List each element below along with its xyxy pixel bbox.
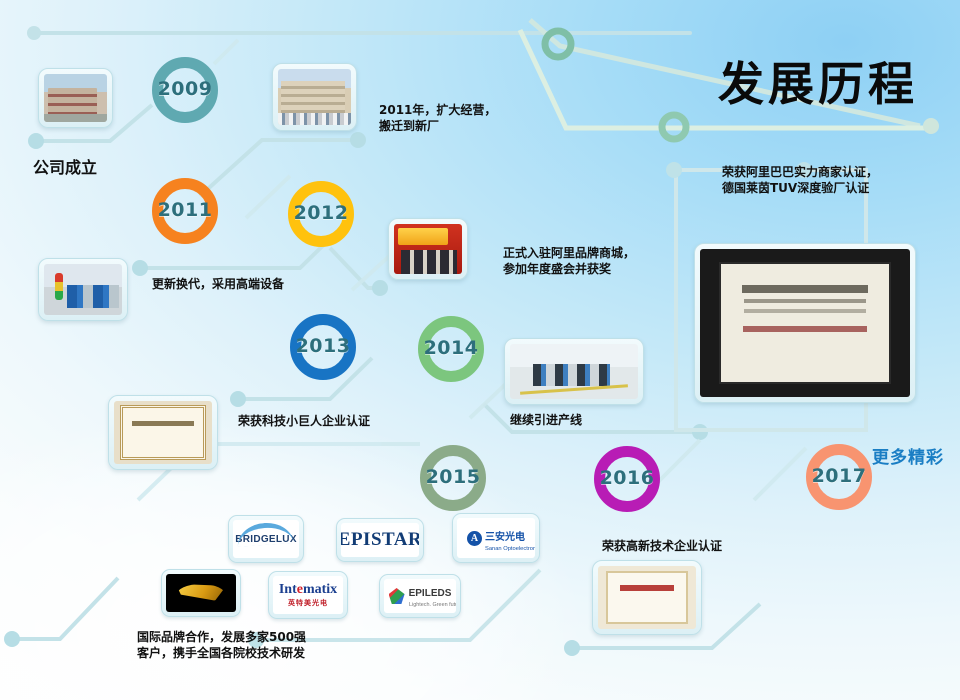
epileds-wordmark: EPILEDS Lightech. Green future. [389,588,452,605]
year-node-label: 2014 [424,337,479,359]
photo-workshop [38,258,128,321]
year-node-2012[interactable]: 2012 [288,181,354,247]
bridgelux-wordmark: BRIDGELUX [235,534,297,545]
photo-cert-hitech-image [598,566,696,629]
logo-epileds: EPILEDS Lightech. Green future. [379,574,461,618]
year-node-label: 2011 [158,199,213,221]
photo-cert-giant-image [114,401,212,464]
logo-epistar-inner: EPISTAR [341,523,419,557]
photo-annual-meeting [388,218,468,280]
year-node-2013[interactable]: 2013 [290,314,356,380]
photo-prod-line [504,338,644,405]
year-node-label: 2016 [600,467,655,489]
infographic-canvas: 发展历程 更多精彩 BRIDGELUXEPISTAR A 三安光电 Sanan … [0,0,960,700]
logo-sanan: A 三安光电 Sanan Optoelectronics [452,513,540,563]
year-node-2014[interactable]: 2014 [418,316,484,382]
epistar-wordmark: EPISTAR [341,529,419,551]
year-node-2011[interactable]: 2011 [152,178,218,244]
annotation-little-giant: 荣获科技小巨人企业认证 [238,413,370,429]
annotation-hi-tech: 荣获高新技术企业认证 [602,538,722,554]
photo-old-factory-image [44,74,107,122]
logo-intematix-inner: Intematix 英特美光电 [273,576,343,614]
more-label: 更多精彩 [872,443,944,468]
annotation-move-2011: 2011年，扩大经营， 搬迁到新厂 [379,102,496,134]
year-node-2016[interactable]: 2016 [594,446,660,512]
logo-luminus-inner [166,574,236,612]
year-node-label: 2015 [426,466,481,488]
year-node-2009[interactable]: 2009 [152,57,218,123]
photo-workshop-image [44,264,122,315]
photo-old-factory [38,68,113,128]
annotation-brands: 国际品牌合作，发展多家500强 客户，携手全国各院校技术研发 [137,629,306,661]
logo-intematix: Intematix 英特美光电 [268,571,348,619]
photo-cert-alibaba-image [700,249,910,397]
logo-epistar: EPISTAR [336,518,424,562]
logo-luminus [161,569,241,617]
photo-cert-giant [108,395,218,470]
year-node-label: 2017 [812,465,867,487]
year-node-label: 2013 [296,335,351,357]
logo-bridgelux: BRIDGELUX [228,515,304,563]
sanan-wordmark: A 三安光电 Sanan Optoelectronics [467,528,525,549]
annotation-alibaba-tuv: 荣获阿里巴巴实力商家认证， 德国莱茵TUV深度验厂认证 [722,164,878,196]
logo-sanan-inner: A 三安光电 Sanan Optoelectronics [457,518,535,558]
photo-annual-meeting-image [394,224,462,274]
page-title: 发展历程 [718,48,918,114]
epileds-mark-icon [389,588,405,604]
logo-epileds-inner: EPILEDS Lightech. Green future. [384,579,456,613]
annotation-alibaba-mall: 正式入驻阿里品牌商城， 参加年度盛会并获奖 [503,245,635,277]
year-node-2017[interactable]: 2017 [806,444,872,510]
annotation-new-line: 继续引进产线 [510,412,582,428]
annotation-upgrade: 更新换代，采用高端设备 [152,276,284,292]
year-node-label: 2012 [294,202,349,224]
photo-new-factory [272,63,357,131]
photo-cert-alibaba [694,243,916,403]
photo-new-factory-image [278,69,351,125]
photo-cert-hitech [592,560,702,635]
annotation-founding: 公司成立 [33,157,97,179]
sanan-mark-icon: A [467,531,482,546]
intematix-wordmark: Intematix 英特美光电 [279,582,337,608]
logo-bridgelux-inner: BRIDGELUX [233,520,299,558]
photo-prod-line-image [510,344,638,399]
year-node-2015[interactable]: 2015 [420,445,486,511]
year-node-label: 2009 [158,78,213,100]
